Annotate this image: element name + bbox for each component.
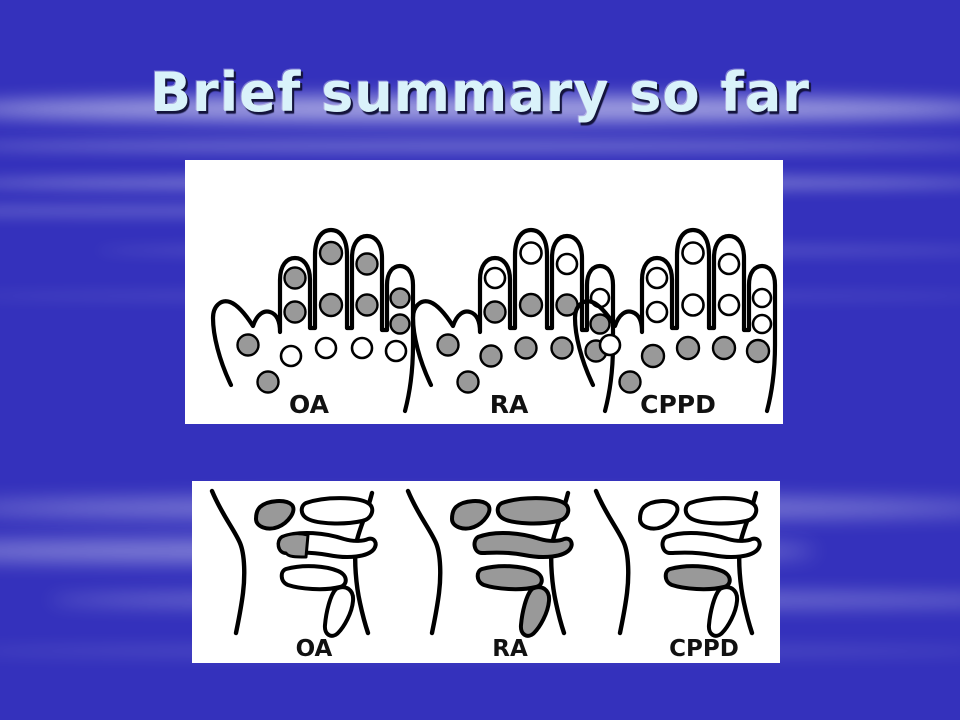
figure-label-cppd-wrist: CPPD — [669, 636, 739, 662]
wrist-panel-oa: OA — [212, 491, 376, 662]
thumb-cmc-joint-ra — [458, 372, 479, 393]
wrist-panel-cppd: CPPD — [596, 491, 760, 662]
mcp-joints-cppd — [642, 337, 769, 367]
hand-distribution-figure: OA — [185, 160, 783, 424]
thumb-ip-joint-oa — [238, 335, 259, 356]
figure-label-ra-wrist: RA — [492, 636, 528, 662]
wrist-panel-ra: RA — [408, 491, 572, 662]
thumb-cmc-joint-oa — [258, 372, 279, 393]
figure-label-ra: RA — [490, 390, 529, 419]
hand-outline-oa — [213, 230, 413, 411]
mcp-joints-oa — [281, 338, 406, 366]
page-title: Brief summary so far — [0, 66, 960, 120]
thumb-cmc-joint-cppd — [620, 372, 641, 393]
hand-diagram-svg: OA — [185, 160, 783, 424]
carpal-joint-spaces-oa — [256, 498, 376, 636]
carpal-joint-spaces-cppd — [640, 498, 760, 636]
thumb-ip-joint-ra — [438, 335, 459, 356]
hand-panel-oa: OA — [213, 230, 413, 419]
figure-label-oa-wrist: OA — [296, 636, 333, 662]
slide: Brief summary so far — [0, 0, 960, 720]
wrist-diagram-svg: OA RA — [192, 481, 780, 663]
figure-label-oa: OA — [289, 390, 330, 419]
wrist-distribution-figure: OA RA — [192, 481, 780, 663]
figure-label-cppd: CPPD — [640, 390, 716, 419]
carpal-joint-spaces-ra — [452, 498, 572, 636]
cloud-streak — [0, 140, 960, 152]
hand-panel-ra: RA — [413, 230, 613, 419]
hand-outline-ra — [413, 230, 613, 411]
mcp-joints-ra — [481, 338, 607, 367]
thumb-ip-joint-cppd — [600, 335, 620, 355]
